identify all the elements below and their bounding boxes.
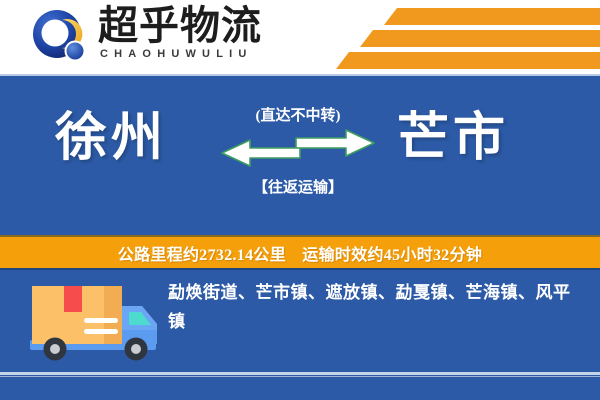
circular-q-logo-icon	[30, 9, 90, 64]
logistics-route-banner: 超乎物流 CHAOHUWULIU 徐州 (直达不中转) 【往返运输】 芒市 公路…	[0, 0, 600, 400]
stripe-3	[336, 52, 600, 69]
bidirectional-arrow-icon	[218, 126, 378, 170]
banner-header: 超乎物流 CHAOHUWULIU	[0, 0, 600, 74]
route-arrow-block: (直达不中转) 【往返运输】	[218, 104, 378, 214]
direct-service-note: (直达不中转)	[218, 104, 378, 125]
bottom-divider-secondary	[0, 376, 600, 377]
coverage-section: 勐焕街道、芒市镇、遮放镇、勐戛镇、芒海镇、风平镇	[0, 270, 600, 372]
bottom-divider	[0, 372, 600, 375]
stripe-2	[360, 30, 600, 47]
route-section: 徐州 (直达不中转) 【往返运输】 芒市	[0, 76, 600, 237]
distance-duration-text: 公路里程约2732.14公里 运输时效约45小时32分钟	[118, 241, 482, 265]
brand-name-cn: 超乎物流	[98, 4, 262, 48]
origin-city: 徐州	[55, 106, 167, 172]
covered-towns-list: 勐焕街道、芒市镇、遮放镇、勐戛镇、芒海镇、风平镇	[168, 278, 578, 336]
delivery-truck-icon	[26, 278, 166, 368]
destination-city: 芒市	[397, 106, 509, 172]
distance-duration-bar: 公路里程约2732.14公里 运输时效约45小时32分钟	[0, 237, 600, 268]
stripe-1	[384, 8, 600, 25]
decorative-stripes	[330, 0, 600, 74]
roundtrip-note: 【往返运输】	[218, 176, 378, 197]
brand-name-en: CHAOHUWULIU	[100, 48, 253, 60]
